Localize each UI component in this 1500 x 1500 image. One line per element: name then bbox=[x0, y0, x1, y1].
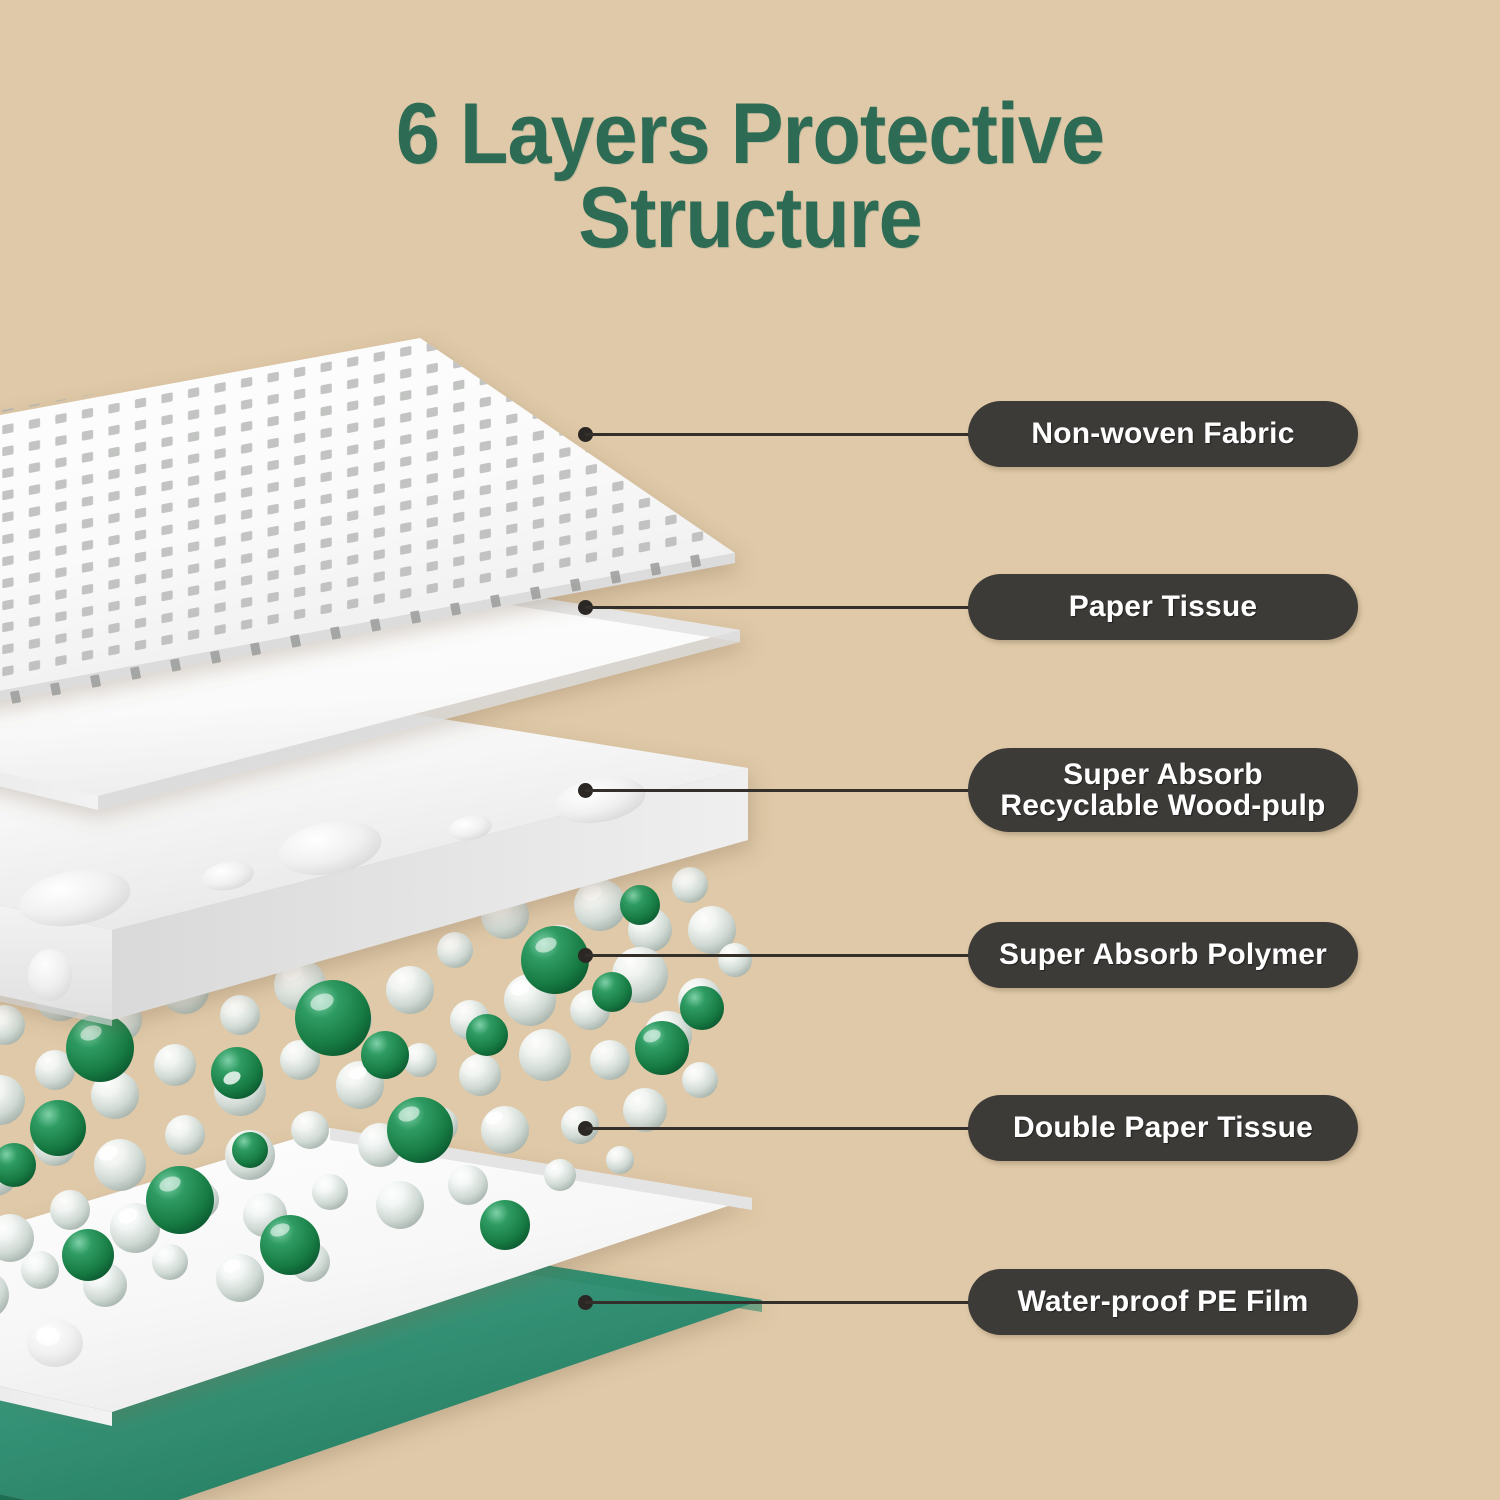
pill-label-non-woven-fabric: Non-woven Fabric bbox=[1031, 418, 1294, 450]
page-title-line-2: Structure bbox=[60, 176, 1440, 260]
page-title-line-1: 6 Layers Protective bbox=[60, 92, 1440, 176]
pill-double-paper-tissue[interactable]: Double Paper Tissue bbox=[968, 1095, 1358, 1161]
leader-line-non-woven-fabric bbox=[585, 433, 985, 436]
pill-label-water-proof-pe-film: Water-proof PE Film bbox=[1017, 1286, 1308, 1318]
pill-paper-tissue[interactable]: Paper Tissue bbox=[968, 574, 1358, 640]
leader-line-water-proof-pe-film bbox=[585, 1301, 985, 1304]
leader-line-super-absorb-recyclable-wood-pulp bbox=[585, 789, 985, 792]
pill-label-super-absorb-recyclable-wood-pulp-line-1: Super Absorb bbox=[1063, 759, 1263, 791]
pill-non-woven-fabric[interactable]: Non-woven Fabric bbox=[968, 401, 1358, 467]
page-title: 6 Layers Protective Structure bbox=[0, 92, 1500, 261]
leader-line-super-absorb-polymer bbox=[585, 954, 985, 957]
leader-line-paper-tissue bbox=[585, 606, 985, 609]
pill-super-absorb-polymer[interactable]: Super Absorb Polymer bbox=[968, 922, 1358, 988]
pill-label-super-absorb-polymer: Super Absorb Polymer bbox=[999, 939, 1327, 971]
pill-label-double-paper-tissue: Double Paper Tissue bbox=[1013, 1112, 1313, 1144]
pill-super-absorb-recyclable-wood-pulp[interactable]: Super Absorb Recyclable Wood-pulp bbox=[968, 748, 1358, 832]
leader-line-double-paper-tissue bbox=[585, 1127, 985, 1130]
pill-label-super-absorb-recyclable-wood-pulp-line-2: Recyclable Wood-pulp bbox=[1000, 790, 1325, 822]
pill-water-proof-pe-film[interactable]: Water-proof PE Film bbox=[968, 1269, 1358, 1335]
pill-label-paper-tissue: Paper Tissue bbox=[1069, 591, 1258, 623]
